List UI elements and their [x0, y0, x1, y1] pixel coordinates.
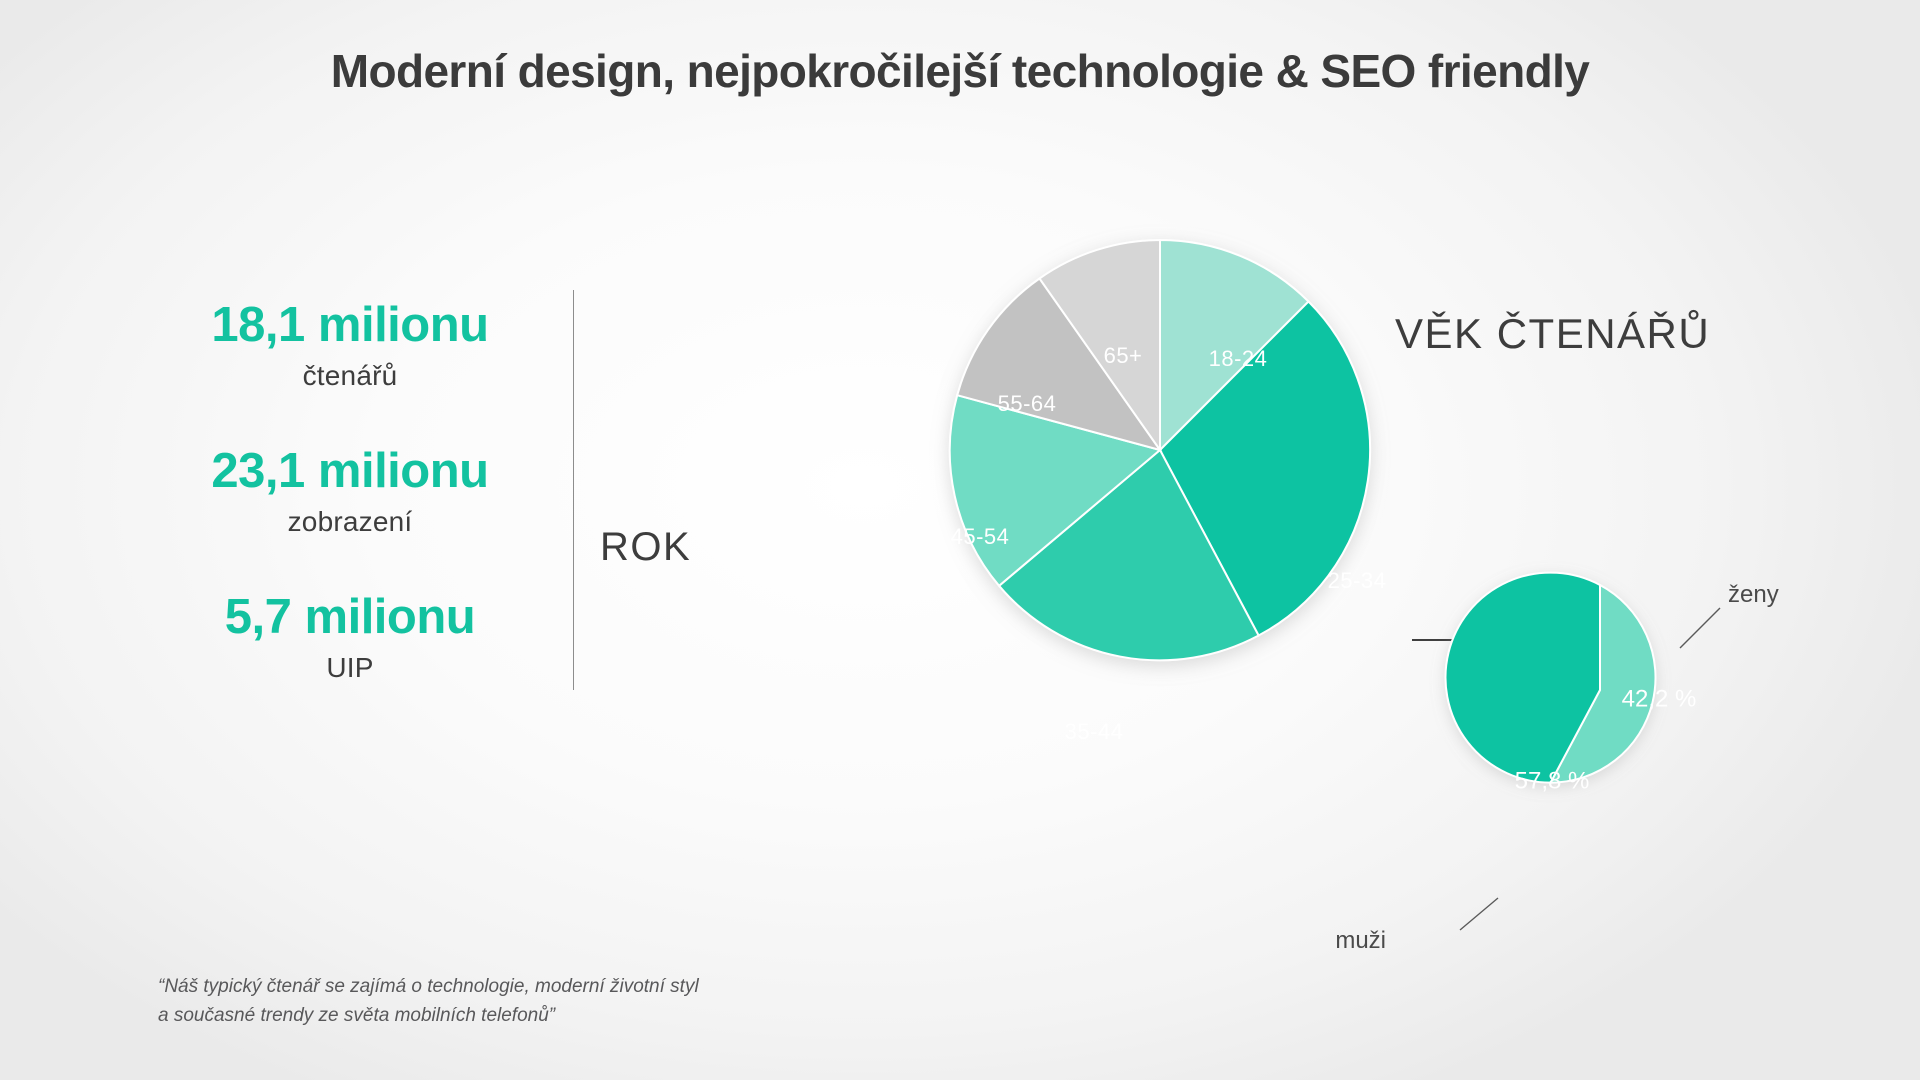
charts-svg: 18-24 25-34 35-44 45-54 55-64 65+ 42,2 %… — [0, 0, 1920, 1080]
pie-label-55-64: 55-64 — [998, 391, 1057, 416]
gender-value-men: 57,8 % — [1515, 767, 1590, 794]
leader-line-men — [1460, 898, 1498, 930]
gender-pie-chart — [1446, 573, 1656, 783]
pie-label-45-54: 45-54 — [951, 524, 1010, 549]
gender-value-women: 42,2 % — [1622, 685, 1697, 712]
pie-label-35-44: 35-44 — [1065, 719, 1124, 744]
infographic-canvas: Moderní design, nejpokročilejší technolo… — [0, 0, 1920, 1080]
pie-label-65plus: 65+ — [1104, 343, 1143, 368]
age-pie-chart — [950, 240, 1370, 660]
leader-line-women — [1680, 608, 1720, 648]
gender-label-men: muži — [1335, 927, 1386, 954]
pie-label-18-24: 18-24 — [1209, 346, 1268, 371]
pie-label-25-34: 25-34 — [1328, 568, 1387, 593]
gender-label-women: ženy — [1728, 581, 1779, 608]
